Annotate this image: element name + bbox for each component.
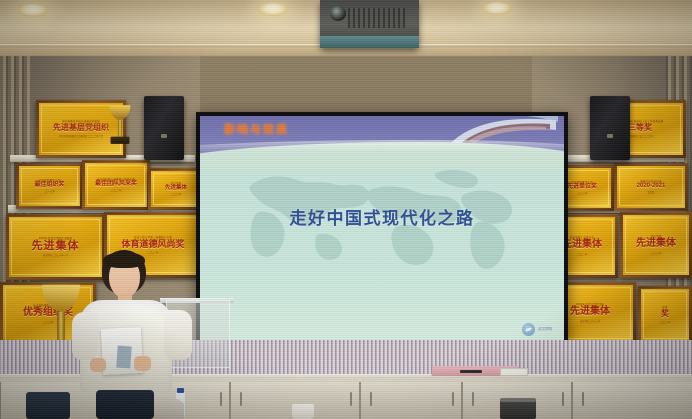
projection-screen: 影响与效果 走好中国式现代化之路 xyxy=(196,112,568,346)
bin-rim xyxy=(500,398,536,402)
award-plaque: 武汉学院 先进集体 二〇二〇年 xyxy=(620,212,692,278)
ceiling-downlight-icon xyxy=(482,2,512,15)
award-plaque: 武汉学院教学工作 最佳组织奖 二〇一九年 xyxy=(16,163,83,209)
trophy-stem xyxy=(57,311,65,341)
trophy-cup-icon xyxy=(110,105,131,120)
plaque-subtitle: 2020年度武汉学院先进集体 xyxy=(39,237,72,240)
lecture-hall-photo: 湖北省教育系统先进基层党组织 先进基层党组织 中共湖北省委教育工作委员会 二〇二… xyxy=(0,0,692,419)
plaque-subtitle: 武汉学院第六届教职工风采大赛 xyxy=(97,178,135,181)
plaque-title: 先进集体 xyxy=(165,185,187,191)
plaque-subtitle: 2021年度武汉学院评选 xyxy=(576,303,604,306)
ceiling-downlight-icon xyxy=(258,3,288,16)
plaque-subtitle: 武汉学院教学工作 xyxy=(571,181,593,184)
gold-trophy-shelf xyxy=(110,105,131,144)
plaque-title: 先进集体 xyxy=(570,306,610,318)
presenter-notes-secondary xyxy=(116,346,132,369)
cabinet-handle[interactable] xyxy=(220,392,222,406)
institution-logo: 武汉学院 xyxy=(522,323,552,336)
logo-badge-icon xyxy=(522,323,535,336)
plaque-title: 体育道德风尚奖 xyxy=(121,239,184,249)
audience-chair[interactable] xyxy=(26,392,70,419)
cabinet-handle[interactable] xyxy=(240,392,242,406)
plaque-subtitle: 武汉学院教学工作 xyxy=(39,179,61,182)
presenter-fringe xyxy=(103,252,145,268)
award-plaque: 省级行业协会评选 2020-2021 优秀奖 xyxy=(614,163,688,211)
plaque-footer: 二〇一九年 xyxy=(44,189,55,193)
award-plaque: 武汉学院第六届教职工风采大赛 最佳团队风采奖 二〇二一年 xyxy=(82,160,150,210)
slide-header-text: 影响与效果 xyxy=(224,121,289,137)
trophy-base xyxy=(111,137,130,144)
cabinet-door[interactable] xyxy=(360,382,462,419)
plaque-footer: 优秀奖 xyxy=(648,190,655,194)
cabinet-handle[interactable] xyxy=(350,392,352,406)
presenter-trousers xyxy=(96,390,154,419)
plaque-footer: 二〇二〇年 xyxy=(577,191,588,195)
plaque-title: 先进基层党组织 xyxy=(53,123,109,132)
plaque-footer: 二〇二一年 xyxy=(577,252,588,256)
presenter xyxy=(72,250,192,419)
plaque-subtitle: 武汉学院 xyxy=(651,235,662,238)
logo-label: 武汉学院 xyxy=(538,328,552,332)
slide-title-text: 走好中国式现代化之路 xyxy=(200,204,564,229)
plaque-footer: 武汉学院 二〇二一年一月 xyxy=(43,253,68,257)
award-plaque: 荣誉 奖 二〇二一年 xyxy=(638,286,692,344)
trophy-stem xyxy=(118,120,122,137)
plaque-title: 先进集体 xyxy=(562,239,602,251)
cabinet-handle[interactable] xyxy=(370,392,372,406)
presenter-hand-left xyxy=(90,358,106,372)
plaque-subtitle: 荣誉 xyxy=(662,306,667,309)
plaque-title: 2020-2021 xyxy=(637,183,666,190)
plaque-subtitle: 武汉工程大学第三届教职工大赛 xyxy=(134,236,172,239)
plaque-title: 三等奖 xyxy=(628,123,652,132)
presenter-remote xyxy=(460,370,482,373)
plaque-footer: 二〇二一年 xyxy=(111,188,122,192)
plaque-footer: 中共湖北省委教育工作委员会 二〇二〇年六月 xyxy=(59,134,103,138)
plaque-footer: 湖北省教育工会 二〇二〇年 xyxy=(627,134,654,138)
plaque-subtitle: 省级行业协会评选 xyxy=(640,180,662,183)
presenter-sleeve-right xyxy=(164,310,192,360)
wall-speaker-right xyxy=(590,96,630,160)
wall-speaker-left xyxy=(144,96,184,160)
ceiling-downlight-icon xyxy=(18,4,48,17)
plaque-footer: 武汉学院 二〇二二年 xyxy=(580,319,600,323)
projector-lens-icon xyxy=(330,6,346,21)
plaque-subtitle: 武汉学院工会委员会 xyxy=(570,236,594,239)
plaque-footer: 二〇二〇年 xyxy=(171,192,182,196)
cabinet-handle[interactable] xyxy=(472,392,474,406)
waste-bin[interactable] xyxy=(500,398,536,419)
cabinet-handle[interactable] xyxy=(562,392,564,406)
plaque-subtitle: 武汉学院 xyxy=(171,182,182,185)
presenter-sleeve-left xyxy=(72,312,98,360)
projector-base xyxy=(320,36,419,48)
projector-vents xyxy=(348,8,406,28)
plaque-title: 最佳组织奖 xyxy=(34,182,64,189)
cabinet-door[interactable] xyxy=(572,382,692,419)
cabinet-handle[interactable] xyxy=(582,392,584,406)
cabinet-handle[interactable] xyxy=(452,392,454,406)
plaque-title: 奖 xyxy=(661,309,669,318)
plaque-footer: 二〇二〇年 xyxy=(651,251,662,255)
slide-surface: 影响与效果 走好中国式现代化之路 xyxy=(200,116,564,342)
plaque-title: 先进单位奖 xyxy=(567,184,597,191)
plaque-subtitle: 湖北省教育系统先进基层党组织 xyxy=(62,120,100,123)
paper-note xyxy=(500,368,528,376)
presenter-hand-right xyxy=(134,356,151,371)
plaque-title: 先进集体 xyxy=(636,238,676,250)
plaque-title: 最佳团队风采奖 xyxy=(95,181,137,188)
paper-cup[interactable] xyxy=(292,404,314,419)
plaque-footer: 二〇二一年 xyxy=(660,320,671,324)
ceiling-projector xyxy=(320,0,419,48)
